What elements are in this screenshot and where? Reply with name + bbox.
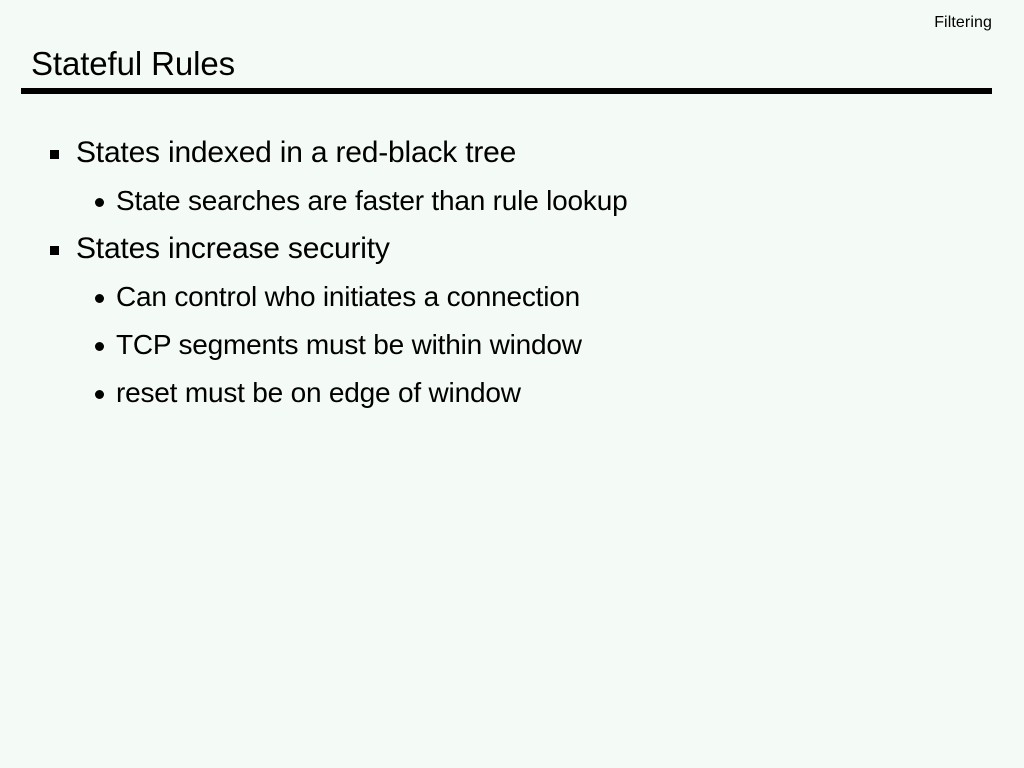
list-item: States increase security	[0, 227, 1024, 275]
list-item-label: reset must be on edge of window	[116, 371, 1024, 414]
list-item: Can control who initiates a connection	[0, 275, 1024, 323]
list-item: State searches are faster than rule look…	[0, 179, 1024, 227]
list-item-label: Can control who initiates a connection	[116, 275, 1024, 318]
round-bullet-icon	[95, 198, 104, 207]
bullet-list: States indexed in a red-black tree State…	[0, 131, 1024, 419]
list-item: States indexed in a red-black tree	[0, 131, 1024, 179]
round-bullet-icon	[95, 342, 104, 351]
page-title: Stateful Rules	[31, 44, 235, 84]
square-bullet-icon	[50, 246, 59, 255]
round-bullet-icon	[95, 390, 104, 399]
square-bullet-icon	[50, 150, 59, 159]
list-item-label: TCP segments must be within window	[116, 323, 1024, 366]
list-item: TCP segments must be within window	[0, 323, 1024, 371]
round-bullet-icon	[95, 294, 104, 303]
list-item-label: State searches are faster than rule look…	[116, 179, 1024, 222]
running-header: Filtering	[934, 15, 992, 31]
title-divider	[21, 88, 992, 94]
list-item-label: States increase security	[76, 227, 1024, 271]
list-item-label: States indexed in a red-black tree	[76, 131, 1024, 175]
list-item: reset must be on edge of window	[0, 371, 1024, 419]
presentation-slide: Filtering Stateful Rules States indexed …	[0, 0, 1024, 768]
